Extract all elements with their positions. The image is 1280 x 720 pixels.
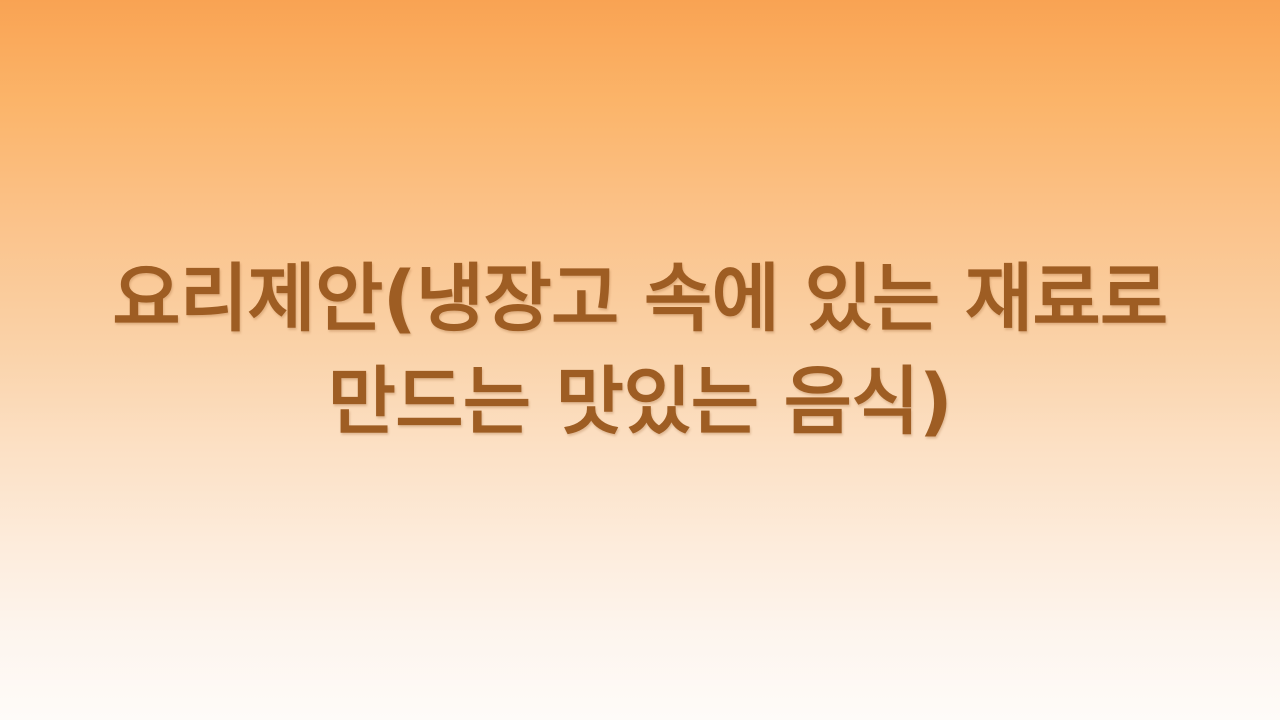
page-title: 요리제안(냉장고 속에 있는 재료로 만드는 맛있는 음식) <box>64 248 1216 454</box>
slide-canvas: 요리제안(냉장고 속에 있는 재료로 만드는 맛있는 음식) <box>0 0 1280 720</box>
title-block: 요리제안(냉장고 속에 있는 재료로 만드는 맛있는 음식) <box>64 248 1216 454</box>
